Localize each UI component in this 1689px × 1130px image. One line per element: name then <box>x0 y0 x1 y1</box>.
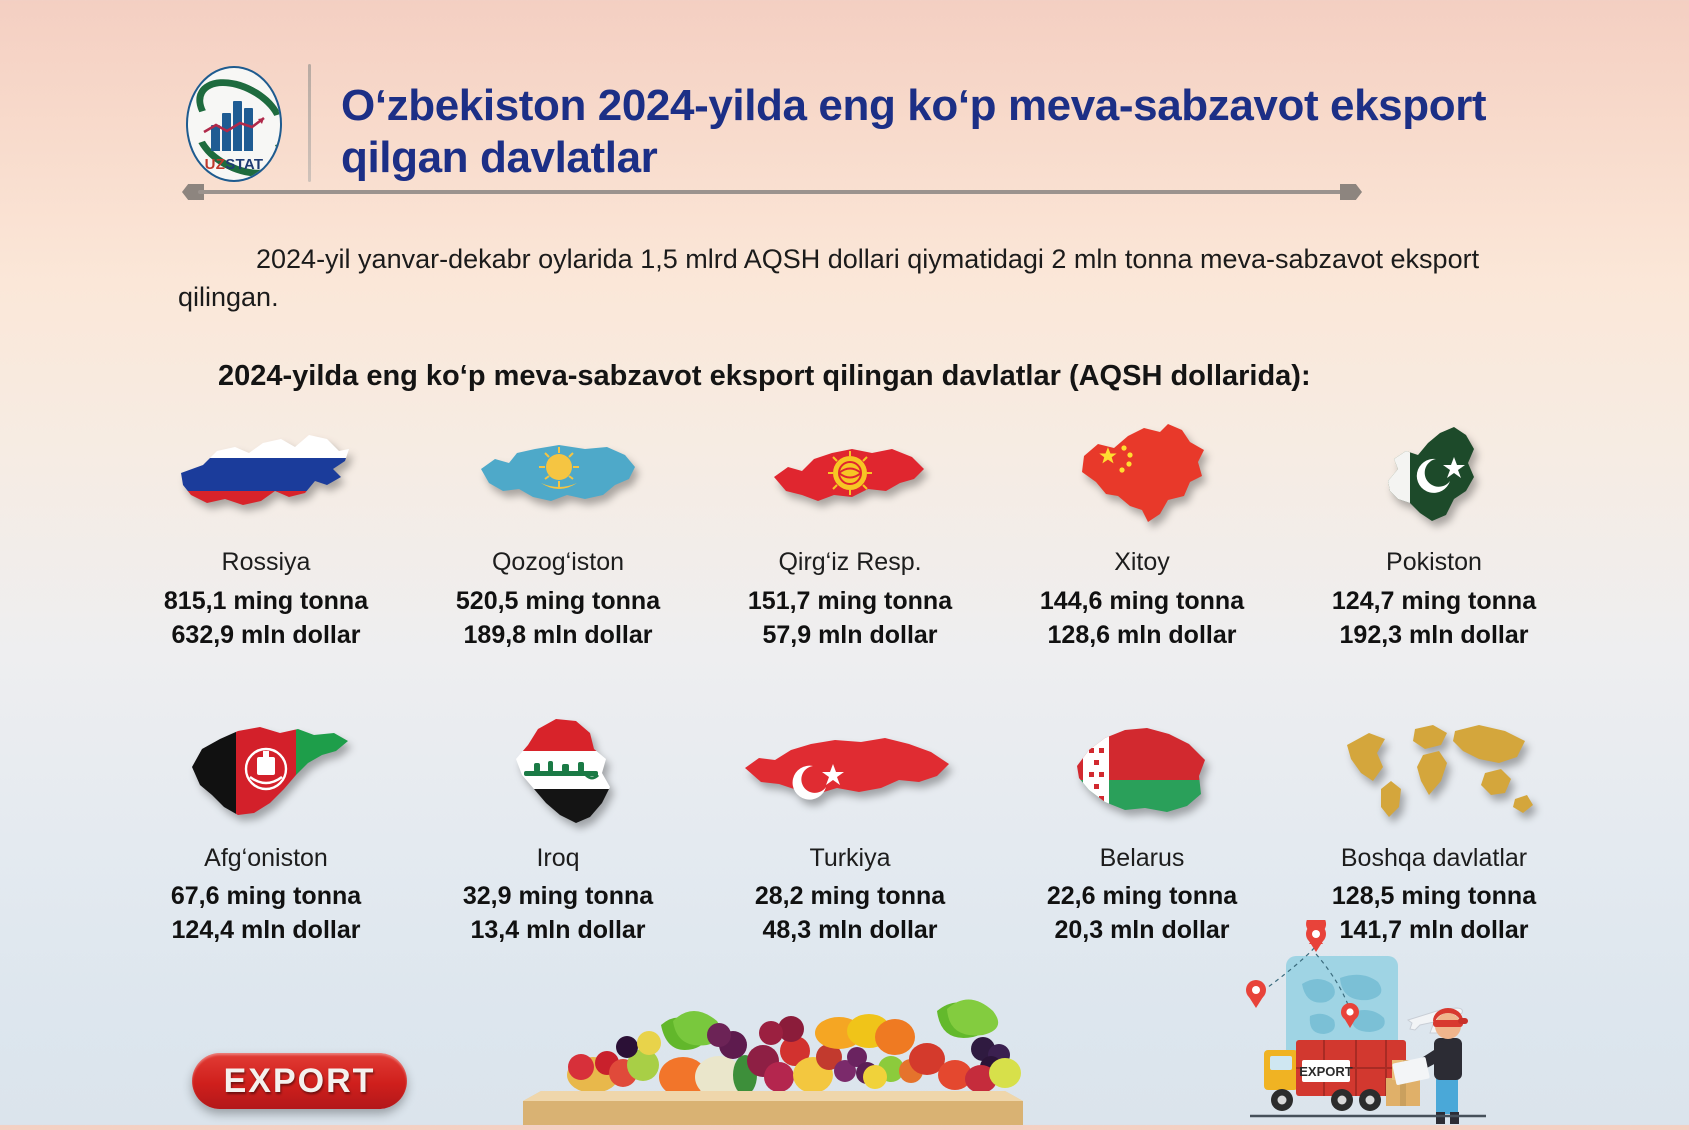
country-name: Iroq <box>536 845 579 873</box>
country-card-iroq: Iroq 32,9 ming tonna 13,4 mln dollar <box>412 711 704 945</box>
country-value: 128,6 mln dollar <box>1048 621 1237 649</box>
country-card-qozogiston: Qozog‘iston 520,5 ming tonna 189,8 mln d… <box>412 415 704 649</box>
country-card-belarus: Belarus 22,6 ming tonna 20,3 mln dollar <box>996 711 1288 945</box>
country-tonnage: 67,6 ming tonna <box>171 882 361 910</box>
country-row-2: Afg‘oniston 67,6 ming tonna 124,4 mln do… <box>120 711 1580 945</box>
kazakhstan-map <box>412 415 704 533</box>
logo-text-stat: STAT <box>225 156 263 173</box>
country-card-rossiya: Rossiya 815,1 ming tonna 632,9 mln dolla… <box>120 415 412 649</box>
rule-cap-right <box>1340 184 1362 200</box>
country-card-xitoy: Xitoy 144,6 ming tonna 128,6 mln dollar <box>996 415 1288 649</box>
country-card-turkiya: Turkiya 28,2 ming tonna 48,3 mln dollar <box>704 711 996 945</box>
country-name: Qozog‘iston <box>492 549 624 577</box>
page-title: O‘zbekiston 2024-yilda eng ko‘p meva-sab… <box>341 62 1518 185</box>
country-card-qirgiz: Qirg‘iz Resp. 151,7 ming tonna 57,9 mln … <box>704 415 996 649</box>
afghanistan-map <box>120 711 412 829</box>
header: UZSTAT O‘zbekiston 2024-yilda eng ko‘p m… <box>178 62 1518 192</box>
country-tonnage: 815,1 ming tonna <box>164 587 368 615</box>
turkey-map <box>704 711 996 829</box>
logo-text-uz: UZ <box>205 156 226 173</box>
header-divider-vertical <box>308 64 311 182</box>
section-heading: 2024-yilda eng ko‘p meva-sabzavot ekspor… <box>218 360 1518 393</box>
country-tonnage: 28,2 ming tonna <box>755 882 945 910</box>
infographic-page: UZSTAT O‘zbekiston 2024-yilda eng ko‘p m… <box>0 0 1689 1125</box>
country-tonnage: 128,5 ming tonna <box>1332 882 1536 910</box>
country-value: 632,9 mln dollar <box>172 621 361 649</box>
country-card-pokiston: Pokiston 124,7 ming tonna 192,3 mln doll… <box>1288 415 1580 649</box>
country-tonnage: 124,7 ming tonna <box>1332 587 1536 615</box>
country-grid: Rossiya 815,1 ming tonna 632,9 mln dolla… <box>120 415 1580 944</box>
country-tonnage: 144,6 ming tonna <box>1040 587 1244 615</box>
country-name: Rossiya <box>222 549 311 577</box>
country-value: 57,9 mln dollar <box>762 621 937 649</box>
country-value: 189,8 mln dollar <box>464 621 653 649</box>
pakistan-map <box>1288 415 1580 533</box>
country-name: Turkiya <box>809 845 890 873</box>
world-map <box>1288 711 1580 829</box>
trend-line-icon <box>202 116 268 138</box>
country-name: Belarus <box>1100 845 1185 873</box>
iraq-map <box>412 711 704 829</box>
truck-export-label: EXPORT <box>1299 1064 1353 1079</box>
country-card-afgoniston: Afg‘oniston 67,6 ming tonna 124,4 mln do… <box>120 711 412 945</box>
uzstat-logo: UZSTAT <box>178 64 284 182</box>
delivery-illustration: EXPORT <box>1190 920 1490 1125</box>
country-value: 192,3 mln dollar <box>1340 621 1529 649</box>
country-tonnage: 520,5 ming tonna <box>456 587 660 615</box>
country-name: Qirg‘iz Resp. <box>778 549 921 577</box>
intro-paragraph: 2024-yil yanvar-dekabr oylarida 1,5 mlrd… <box>178 240 1508 317</box>
country-name: Afg‘oniston <box>204 845 328 873</box>
country-tonnage: 22,6 ming tonna <box>1047 882 1237 910</box>
country-value: 124,4 mln dollar <box>172 916 361 944</box>
country-tonnage: 32,9 ming tonna <box>463 882 653 910</box>
rule-bar <box>198 190 1346 194</box>
country-name: Pokiston <box>1386 549 1482 577</box>
produce-illustration <box>523 925 1023 1125</box>
export-badge[interactable]: EXPORT <box>192 1053 407 1109</box>
country-tonnage: 151,7 ming tonna <box>748 587 952 615</box>
country-name: Boshqa davlatlar <box>1341 845 1527 873</box>
horizontal-rule <box>182 184 1362 200</box>
belarus-map <box>996 711 1288 829</box>
kyrgyzstan-map <box>704 415 996 533</box>
country-name: Xitoy <box>1114 549 1170 577</box>
logo-wordmark: UZSTAT <box>188 156 280 173</box>
country-card-boshqa: Boshqa davlatlar 128,5 ming tonna 141,7 … <box>1288 711 1580 945</box>
country-row-1: Rossiya 815,1 ming tonna 632,9 mln dolla… <box>120 415 1580 649</box>
china-map <box>996 415 1288 533</box>
russia-map <box>120 415 412 533</box>
